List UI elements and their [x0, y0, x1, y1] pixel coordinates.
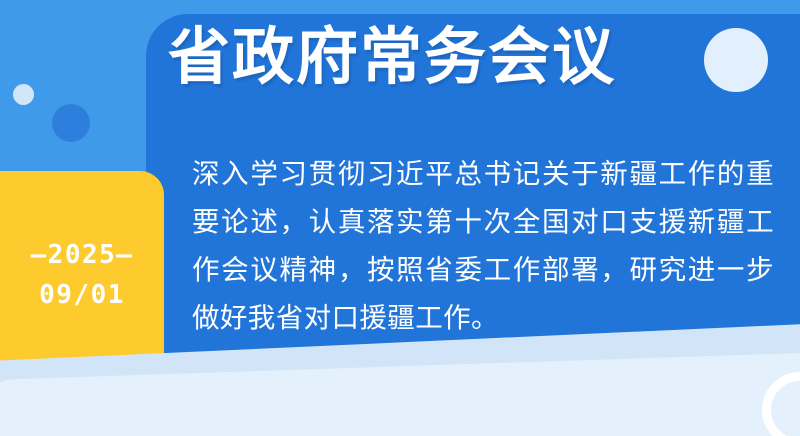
small-pale-dot-icon — [13, 84, 34, 105]
meeting-announcement-banner: 省政府常务会议 深入学习贯彻习近平总书记关于新疆工作的重要论述，认真落实第十次全… — [0, 0, 800, 436]
date-badge: —2025— 09/01 — [0, 171, 164, 378]
page-title: 省政府常务会议 — [168, 22, 788, 93]
announcement-body-text: 深入学习贯彻习近平总书记关于新疆工作的重要论述，认真落实第十次全国对口支援新疆工… — [192, 150, 774, 342]
date-badge-year: —2025— — [31, 235, 134, 275]
large-blue-dot-icon — [52, 104, 90, 142]
date-badge-day: 09/01 — [39, 275, 125, 315]
